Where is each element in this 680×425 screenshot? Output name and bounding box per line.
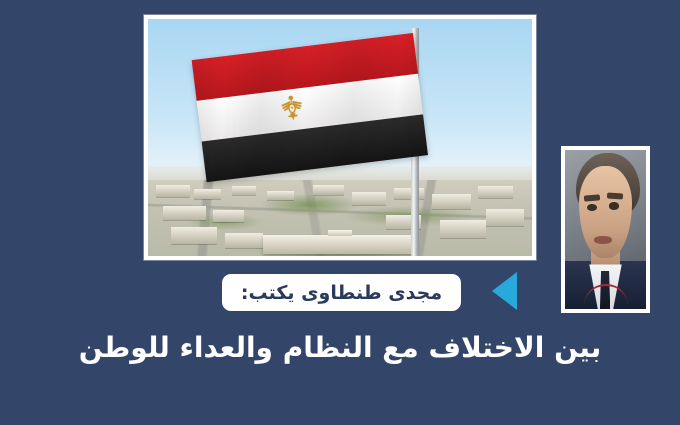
portrait-eye-right xyxy=(609,202,620,209)
eagle-of-saladin-icon xyxy=(272,91,311,127)
left-pointing-triangle-icon xyxy=(492,272,517,310)
opinion-article-banner: مجدى طنطاوى يكتب: بين الاختلاف مع النظام… xyxy=(0,0,680,425)
author-portrait xyxy=(565,150,646,309)
portrait-eyebrow-left xyxy=(584,194,601,202)
author-portrait-frame xyxy=(561,146,650,313)
city-buildings xyxy=(148,180,532,256)
hero-image-frame xyxy=(144,15,536,260)
flag-stripe-white xyxy=(197,74,423,142)
egyptian-flag xyxy=(192,33,428,182)
headline: بين الاختلاف مع النظام والعداء للوطن xyxy=(0,330,680,365)
byline-label: مجدى طنطاوى يكتب: xyxy=(241,282,442,304)
hero-image xyxy=(148,19,532,256)
portrait-mouth xyxy=(594,236,612,244)
landmark-building xyxy=(263,235,417,255)
byline-badge: مجدى طنطاوى يكتب: xyxy=(222,274,461,311)
